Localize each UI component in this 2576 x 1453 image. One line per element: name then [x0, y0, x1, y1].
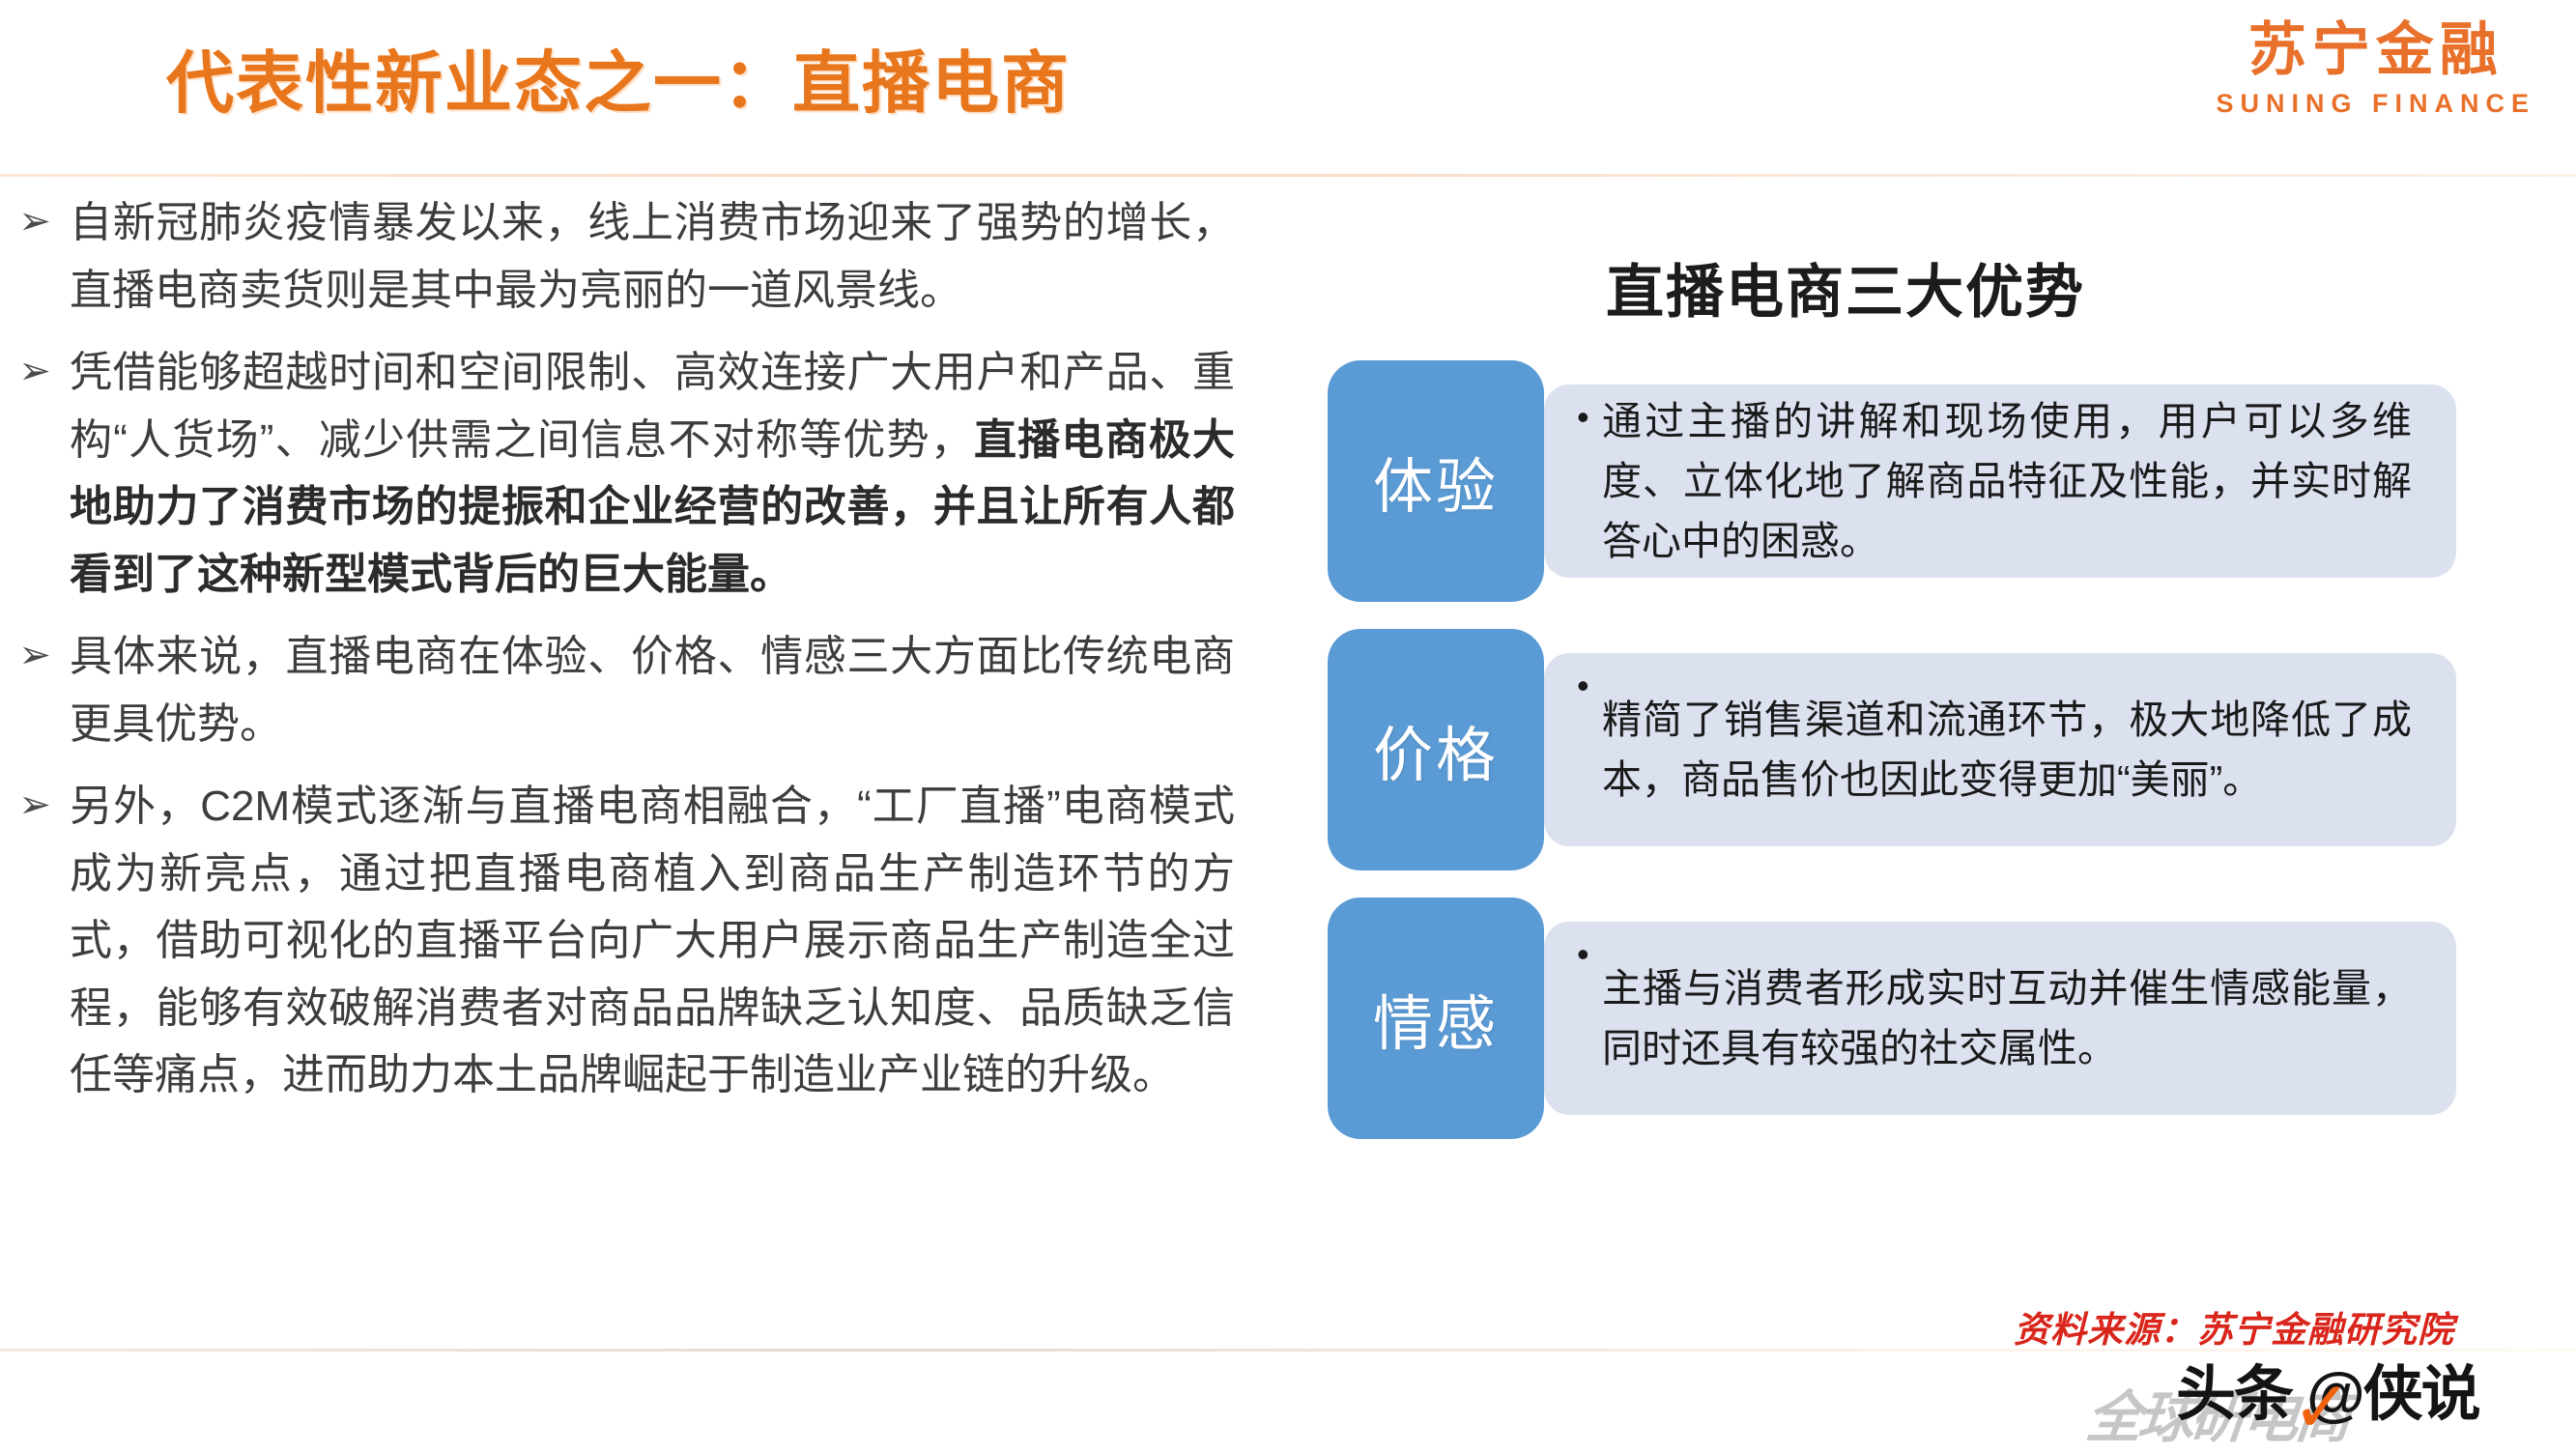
advantage-card-price: 价格 • 精简了销售渠道和流通环节，极大地降低了成本，商品售价也因此变得更加“美… [1304, 629, 2561, 870]
watermark-main-text: 头条 @侠说 [2176, 1345, 2479, 1432]
advantage-card-text: 通过主播的讲解和现场使用，用户可以多维度、立体化地了解商品特征及性能，并实时解答… [1602, 391, 2412, 572]
advantage-card-list: 体验 • 通过主播的讲解和现场使用，用户可以多维度、立体化地了解商品特征及性能，… [1304, 360, 2561, 1139]
arrow-bullet-icon: ➢ [0, 773, 70, 837]
source-attribution: 资料来源：苏宁金融研究院 [2014, 1300, 2454, 1353]
advantage-card-text: 精简了销售渠道和流通环节，极大地降低了成本，商品售价也因此变得更加“美丽”。 [1602, 690, 2412, 811]
advantage-card-emotion: 情感 • 主播与消费者形成实时互动并催生情感能量，同时还具有较强的社交属性。 [1304, 897, 2561, 1139]
dot-bullet-icon: • [1577, 937, 1602, 972]
advantage-card-label: 情感 [1328, 897, 1544, 1139]
check-icon: ✓ [2292, 1372, 2352, 1443]
bullet-text: 另外，C2M模式逐渐与直播电商相融合，“工厂直播”电商模式成为新亮点，通过把直播… [70, 773, 1285, 1109]
header-divider [0, 174, 2576, 177]
advantage-card-body: • 主播与消费者形成实时互动并催生情感能量，同时还具有较强的社交属性。 [1544, 922, 2456, 1115]
bullet-item: ➢ 凭借能够超越时间和空间限制、高效连接广大用户和产品、重构“人货场”、减少供需… [0, 339, 1285, 608]
bullet-item: ➢ 另外，C2M模式逐渐与直播电商相融合，“工厂直播”电商模式成为新亮点，通过把… [0, 773, 1285, 1109]
arrow-bullet-icon: ➢ [0, 339, 70, 403]
advantage-card-label: 价格 [1328, 629, 1544, 870]
advantage-card-experience: 体验 • 通过主播的讲解和现场使用，用户可以多维度、立体化地了解商品特征及性能，… [1304, 360, 2561, 602]
body-text-column: ➢ 自新冠肺炎疫情暴发以来，线上消费市场迎来了强势的增长，直播电商卖货则是其中最… [0, 189, 1285, 1339]
advantage-card-label: 体验 [1328, 360, 1544, 602]
bullet-text: 凭借能够超越时间和空间限制、高效连接广大用户和产品、重构“人货场”、减少供需之间… [70, 339, 1285, 608]
advantages-panel: 直播电商三大优势 体验 • 通过主播的讲解和现场使用，用户可以多维度、立体化地了… [1304, 189, 2561, 1349]
dot-bullet-icon: • [1577, 669, 1602, 703]
slide-header: 代表性新业态之一：直播电商 苏宁金融 SUNING FINANCE [0, 0, 2576, 176]
bullet-item: ➢ 自新冠肺炎疫情暴发以来，线上消费市场迎来了强势的增长，直播电商卖货则是其中最… [0, 189, 1285, 324]
advantage-card-body: • 精简了销售渠道和流通环节，极大地降低了成本，商品售价也因此变得更加“美丽”。 [1544, 653, 2456, 846]
advantage-card-body: • 通过主播的讲解和现场使用，用户可以多维度、立体化地了解商品特征及性能，并实时… [1544, 385, 2456, 578]
suning-finance-logo: 苏宁金融 SUNING FINANCE [2216, 21, 2535, 117]
watermark-ghost-text: 全球研电商 [2083, 1372, 2353, 1453]
advantages-panel-title: 直播电商三大优势 [1304, 245, 2561, 329]
footer-divider [0, 1349, 2576, 1352]
logo-english-text: SUNING FINANCE [2216, 91, 2535, 117]
logo-chinese-text: 苏宁金融 [2216, 21, 2535, 79]
bullet-text: 具体来说，直播电商在体验、价格、情感三大方面比传统电商更具优势。 [70, 623, 1285, 757]
arrow-bullet-icon: ➢ [0, 623, 70, 687]
arrow-bullet-icon: ➢ [0, 189, 70, 253]
advantage-card-text: 主播与消费者形成实时互动并催生情感能量，同时还具有较强的社交属性。 [1602, 958, 2412, 1079]
watermark: 全球研电商 头条 @侠说 ✓ [2083, 1339, 2547, 1443]
bullet-text: 自新冠肺炎疫情暴发以来，线上消费市场迎来了强势的增长，直播电商卖货则是其中最为亮… [70, 189, 1285, 324]
bullet-item: ➢ 具体来说，直播电商在体验、价格、情感三大方面比传统电商更具优势。 [0, 623, 1285, 757]
dot-bullet-icon: • [1577, 400, 1602, 435]
page-title: 代表性新业态之一：直播电商 [166, 29, 1071, 127]
